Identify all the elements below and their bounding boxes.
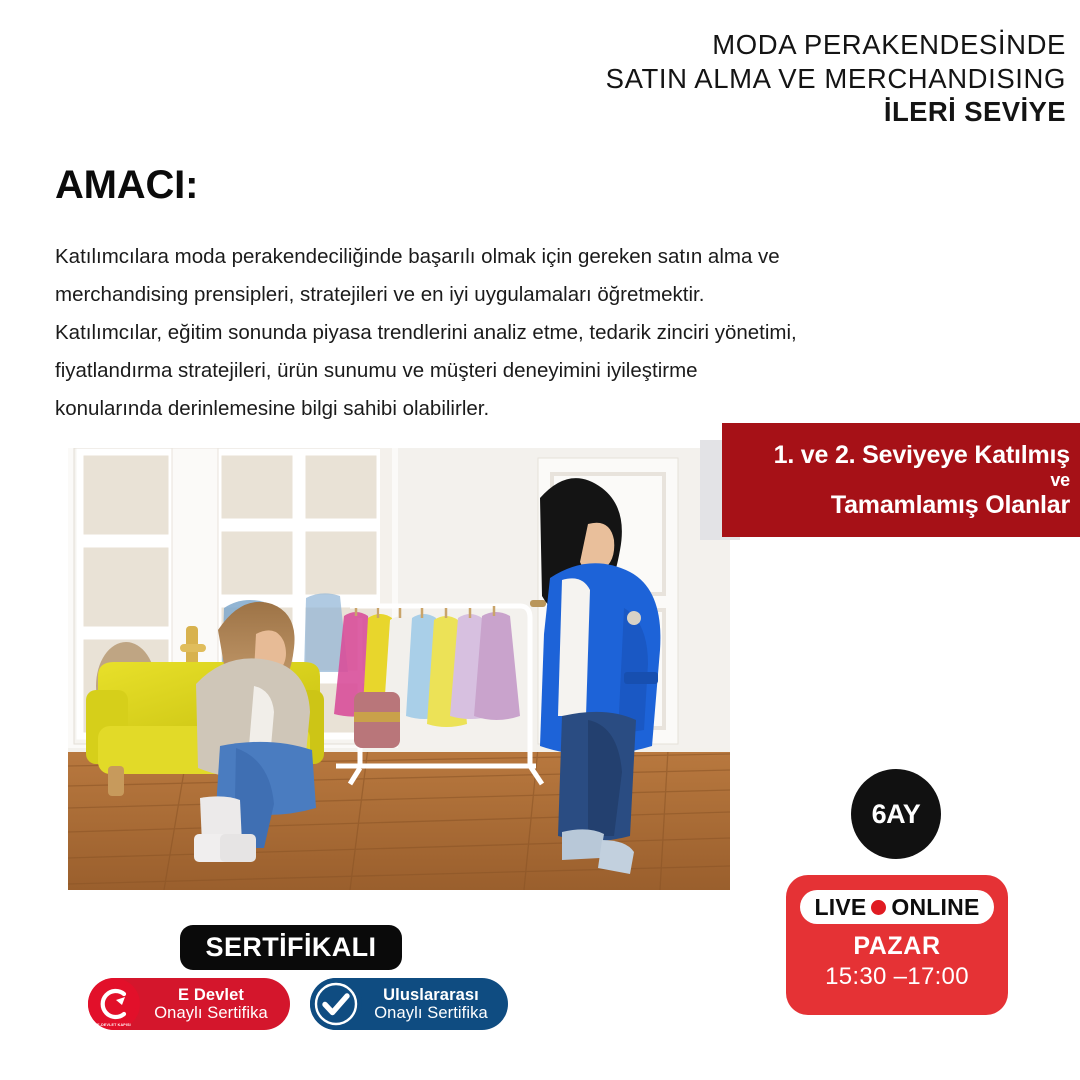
paragraph-line: fiyatlandırma stratejileri, ürün sunumu … (55, 352, 955, 390)
poster-canvas: MODA PERAKENDESİNDE SATIN ALMA VE MERCHA… (0, 0, 1080, 1080)
banner-line-3: Tamamlamış Olanlar (831, 490, 1070, 521)
header-line-2: SATIN ALMA VE MERCHANDISING (606, 62, 1066, 96)
live-online-card: LIVE ONLINE PAZAR 15:30 –17:00 (786, 875, 1008, 1015)
record-dot-icon (871, 900, 886, 915)
header-line-1: MODA PERAKENDESİNDE (606, 28, 1066, 62)
banner-line-2: ve (1050, 471, 1070, 490)
live-online-pill: LIVE ONLINE (800, 890, 993, 924)
paragraph-line: Katılımcılar, eğitim sonunda piyasa tren… (55, 314, 955, 352)
certificate-badge-international: Uluslararası Onaylı Sertifika (310, 978, 508, 1030)
certified-badge: SERTİFİKALI (180, 925, 402, 970)
live-label: LIVE (814, 894, 866, 921)
poster-header: MODA PERAKENDESİNDE SATIN ALMA VE MERCHA… (606, 28, 1066, 129)
checkmark-icon (311, 979, 361, 1029)
session-time: 15:30 –17:00 (825, 963, 969, 991)
banner-line-1: 1. ve 2. Seviyeye Katılmış (774, 440, 1070, 471)
hero-photo (68, 448, 730, 890)
duration-label: 6AY (872, 799, 921, 830)
check-circle-icon (310, 978, 362, 1030)
certificate-badge-edevlet: E-DEVLET KAPISI E Devlet Onaylı Sertifik… (88, 978, 290, 1030)
certificate-title: Uluslararası (362, 986, 500, 1004)
online-label: ONLINE (891, 894, 979, 921)
certificate-title: E Devlet (140, 986, 282, 1004)
edevlet-logo-icon: E-DEVLET KAPISI (88, 978, 140, 1030)
photo-illustration (68, 448, 730, 890)
section-title: AMACI: (55, 163, 198, 208)
certificate-subtitle: Onaylı Sertifika (362, 1004, 500, 1022)
edevlet-c-mark-icon (91, 981, 137, 1027)
certificate-text-edevlet: E Devlet Onaylı Sertifika (140, 986, 290, 1023)
section-paragraph: Katılımcılara moda perakendeciliğinde ba… (55, 238, 955, 428)
duration-badge: 6AY (851, 769, 941, 859)
session-day: PAZAR (853, 932, 940, 961)
header-line-3: İLERİ SEVİYE (606, 95, 1066, 129)
edevlet-logo-caption: E-DEVLET KAPISI (97, 1023, 131, 1027)
eligibility-banner: 1. ve 2. Seviyeye Katılmış ve Tamamlamış… (722, 423, 1080, 537)
certificate-subtitle: Onaylı Sertifika (140, 1004, 282, 1022)
paragraph-line: Katılımcılara moda perakendeciliğinde ba… (55, 238, 955, 276)
certificate-text-international: Uluslararası Onaylı Sertifika (362, 986, 508, 1023)
paragraph-line: merchandising prensipleri, stratejileri … (55, 276, 955, 314)
certified-label: SERTİFİKALI (206, 932, 377, 963)
